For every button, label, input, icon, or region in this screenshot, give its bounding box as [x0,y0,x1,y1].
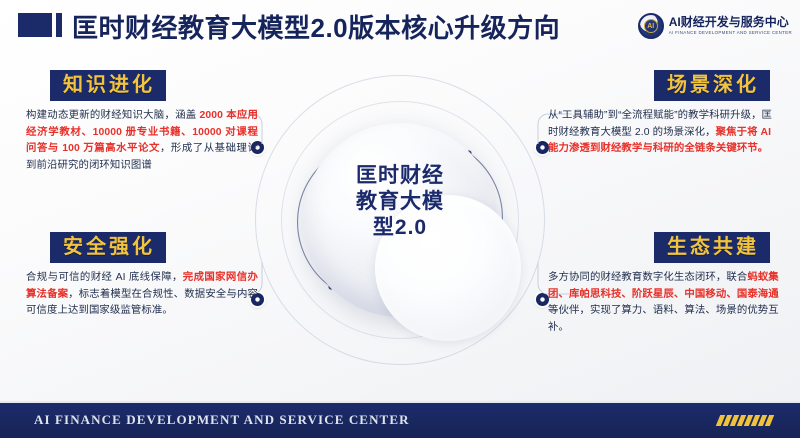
logo-english-name: AI FINANCE DEVELOPMENT AND SERVICE CENTE… [669,29,792,36]
plain-text: 构建动态更新的财经知识大脑，涵盖 [26,110,200,121]
card-body-knowledge: 构建动态更新的财经知识大脑，涵盖 2000 本应用经济学教材、10000 册专业… [26,108,258,174]
organization-logo: AI AI财经开发与服务中心 AI FINANCE DEVELOPMENT AN… [638,11,792,41]
card-badge-scenario: 场景深化 [654,70,770,101]
footer-organization-text: AI FINANCE DEVELOPMENT AND SERVICE CENTE… [34,412,410,428]
center-model-name-line: 型2.0 [255,215,545,241]
footer-stripe-decoration [718,415,772,426]
card-badge-security: 安全强化 [50,232,166,263]
header-accent-bar [56,13,62,37]
center-model-name: 匡时财经教育大模型2.0 [255,163,545,241]
logo-emblem-inner-text: AI [644,19,658,33]
card-body-ecosystem: 多方协同的财经教育数字化生态闭环，联合蚂蚁集团、库帕思科技、阶跃星辰、中国移动、… [548,270,780,336]
plain-text: 合规与可信的财经 AI 底线保障， [26,272,183,283]
slide-footer: AI FINANCE DEVELOPMENT AND SERVICE CENTE… [0,403,800,438]
page-title: 匡时财经教育大模型2.0版本核心升级方向 [72,8,560,45]
card-body-security: 合规与可信的财经 AI 底线保障，完成国家网信办算法备案，标志着模型在合规性、数… [26,270,258,320]
slide-canvas: 匡时财经教育大模型2.0版本核心升级方向 AI AI财经开发与服务中心 AI F… [0,0,800,438]
card-scenario-deepening: 场景深化 从“工具辅助”到“全流程赋能”的教学科研升级，匡时财经教育大模型 2.… [548,70,780,158]
center-orbit-graphic: 匡时财经教育大模型2.0 [255,75,545,365]
plain-text: 多方协同的财经教育数字化生态闭环，联合 [548,272,747,283]
card-badge-knowledge: 知识进化 [50,70,166,101]
logo-text-group: AI财经开发与服务中心 AI FINANCE DEVELOPMENT AND S… [669,16,792,36]
logo-emblem-icon: AI [638,13,664,39]
card-badge-ecosystem: 生态共建 [654,232,770,263]
card-ecosystem-cobuilding: 生态共建 多方协同的财经教育数字化生态闭环，联合蚂蚁集团、库帕思科技、阶跃星辰、… [548,232,780,336]
plain-text: 等伙伴，实现了算力、语料、算法、场景的优势互补。 [548,305,779,333]
header-accent-block [18,13,52,37]
card-body-scenario: 从“工具辅助”到“全流程赋能”的教学科研升级，匡时财经教育大模型 2.0 的场景… [548,108,780,158]
center-model-name-line: 匡时财经 [255,163,545,189]
card-knowledge-evolution: 知识进化 构建动态更新的财经知识大脑，涵盖 2000 本应用经济学教材、1000… [26,70,258,174]
slide-header: 匡时财经教育大模型2.0版本核心升级方向 AI AI财经开发与服务中心 AI F… [0,0,800,52]
center-model-name-line: 教育大模 [255,189,545,215]
logo-chinese-name: AI财经开发与服务中心 [669,16,792,29]
card-security-enhancement: 安全强化 合规与可信的财经 AI 底线保障，完成国家网信办算法备案，标志着模型在… [26,232,258,320]
